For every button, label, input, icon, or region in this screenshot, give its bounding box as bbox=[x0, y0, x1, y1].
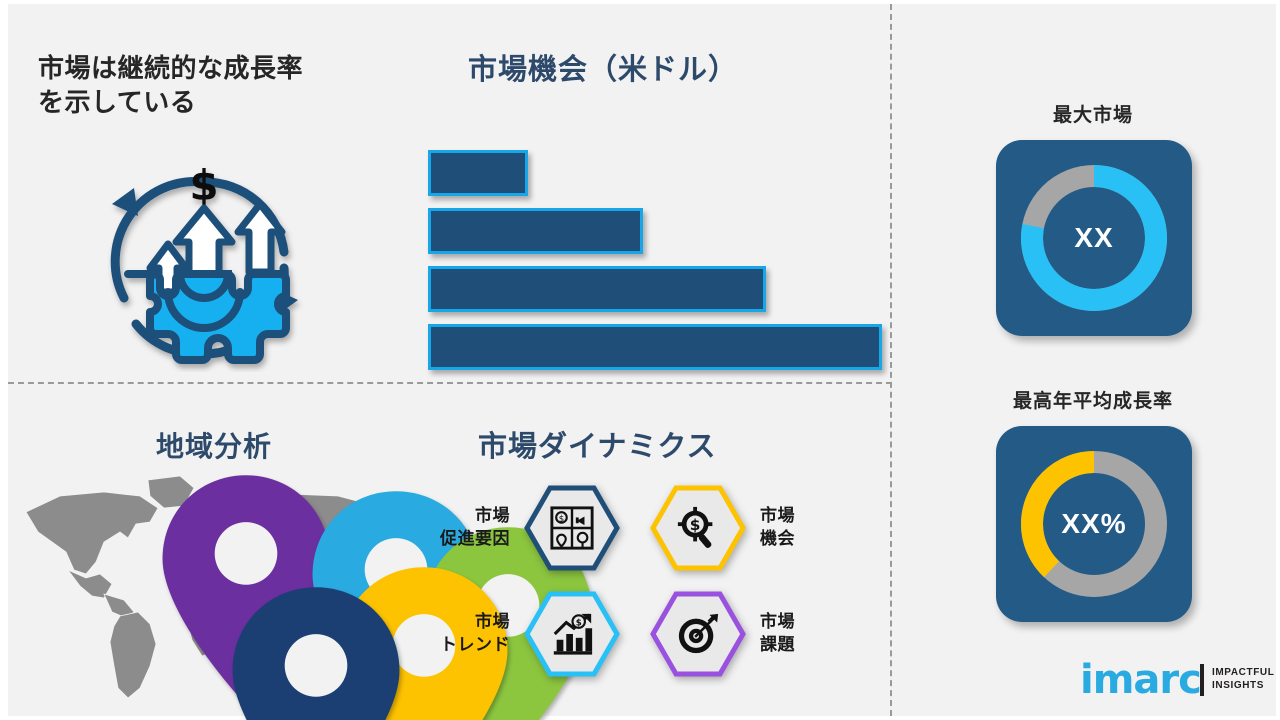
slide-canvas: 市場は継続的な成長率 を示している $ bbox=[0, 0, 1280, 720]
cagr-caption: 最高年平均成長率 bbox=[963, 386, 1223, 413]
dynamics-grid: 市場 促進要因 $ bbox=[408, 484, 878, 674]
growth-cycle-gear-icon: $ bbox=[80, 132, 328, 372]
svg-text:$: $ bbox=[559, 514, 564, 524]
hexagon-frame bbox=[650, 591, 746, 677]
cagr-card: XX% bbox=[996, 426, 1192, 622]
bar-row bbox=[428, 266, 766, 312]
bar-2 bbox=[428, 208, 643, 254]
logo-divider bbox=[1200, 664, 1204, 696]
world-map bbox=[8, 466, 408, 706]
bar-row bbox=[428, 208, 643, 254]
regional-title: 地域分析 bbox=[156, 429, 272, 464]
hexagon-frame: $ bbox=[524, 485, 620, 571]
logo-tagline-line1: IMPACTFUL bbox=[1212, 666, 1274, 679]
hexagon-frame: $ bbox=[524, 591, 620, 677]
bar-3 bbox=[428, 266, 766, 312]
largest-market-value: XX bbox=[1074, 222, 1113, 254]
bar-4 bbox=[428, 324, 882, 370]
horizontal-divider bbox=[8, 382, 892, 384]
bar-chart-growth-icon: $ bbox=[549, 611, 595, 657]
dynamics-item-label: 市場 課題 bbox=[760, 611, 795, 657]
dynamics-item-drivers[interactable]: 市場 促進要因 $ bbox=[408, 484, 620, 572]
dynamics-item-label: 市場 促進要因 bbox=[440, 505, 510, 551]
dynamics-item-opportunities[interactable]: $ 市場 機会 bbox=[650, 484, 862, 572]
target-dart-icon bbox=[675, 611, 721, 657]
logo-tagline-line2: INSIGHTS bbox=[1212, 679, 1274, 692]
vertical-divider bbox=[890, 4, 892, 716]
largest-market-caption: 最大市場 bbox=[963, 100, 1223, 127]
svg-text:$: $ bbox=[690, 516, 701, 534]
opportunity-title: 市場機会（米ドル） bbox=[468, 52, 738, 88]
logo-tagline: IMPACTFUL INSIGHTS bbox=[1212, 666, 1274, 692]
cagr-value: XX% bbox=[1061, 508, 1126, 540]
imarc-logo: imarc IMPACTFUL INSIGHTS bbox=[1080, 658, 1270, 704]
growth-title: 市場は継続的な成長率 を示している bbox=[38, 52, 398, 120]
bar-row bbox=[428, 150, 528, 196]
magnifier-dollar-icon: $ bbox=[675, 505, 721, 551]
dynamics-title: 市場ダイナミクス bbox=[478, 429, 717, 465]
opportunity-bar-chart bbox=[428, 150, 888, 350]
logo-wordmark: imarc bbox=[1080, 658, 1201, 702]
dynamics-item-trends[interactable]: 市場 トレンド $ bbox=[408, 590, 620, 678]
dynamics-item-label: 市場 トレンド bbox=[440, 611, 510, 657]
bar-1 bbox=[428, 150, 528, 196]
svg-text:$: $ bbox=[189, 161, 218, 210]
hexagon-frame: $ bbox=[650, 485, 746, 571]
svg-text:$: $ bbox=[576, 618, 582, 628]
puzzle-pieces-icon: $ bbox=[549, 505, 595, 551]
bar-row bbox=[428, 324, 882, 370]
dynamics-item-label: 市場 機会 bbox=[760, 505, 795, 551]
dynamics-item-challenges[interactable]: 市場 課題 bbox=[650, 590, 862, 678]
largest-market-card: XX bbox=[996, 140, 1192, 336]
